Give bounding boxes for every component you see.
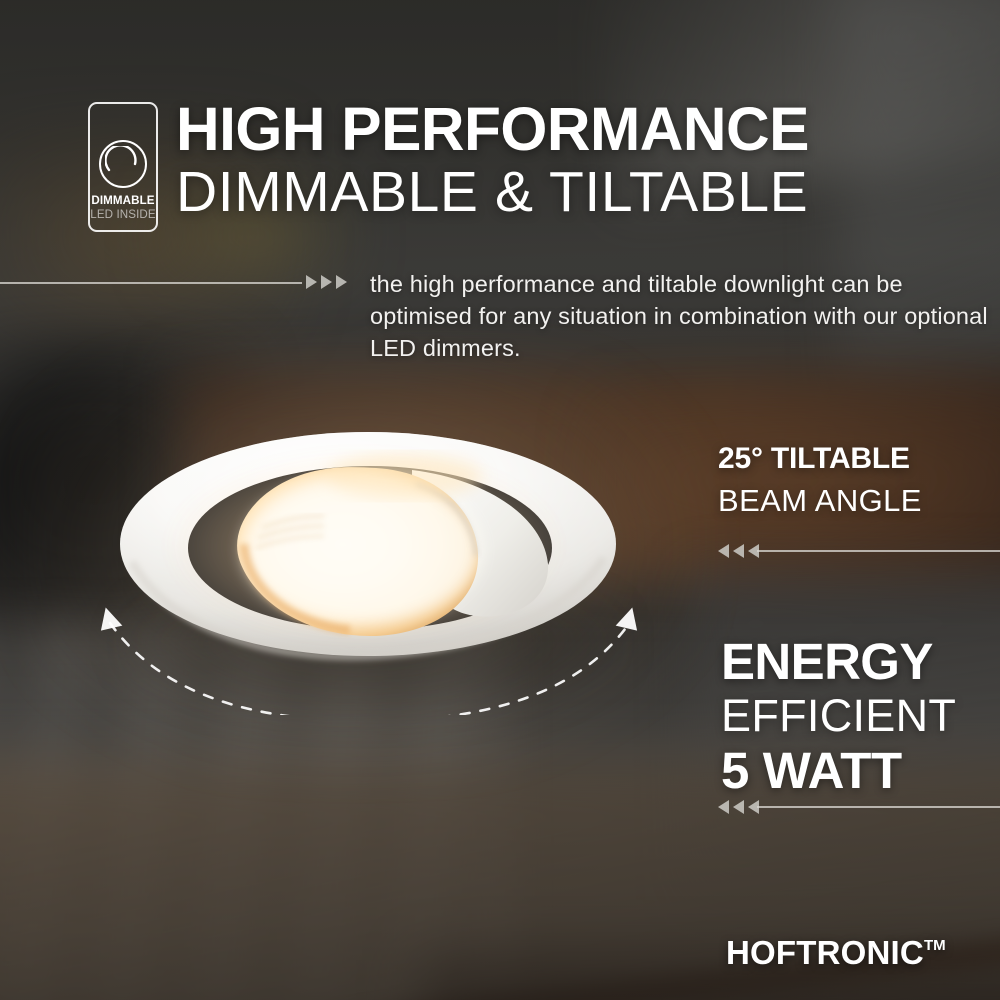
callout-energy-line3: 5 WATT (721, 745, 956, 796)
dimmer-knob-arc-icon (105, 146, 141, 182)
brand-trademark: TM (924, 937, 946, 954)
badge-title: DIMMABLE (90, 195, 156, 207)
brand-logo: HOFTRONICTM (726, 934, 946, 972)
product-downlight-image (112, 424, 624, 692)
triangle-left-icon (718, 800, 729, 814)
brand-name: HOFTRONIC (726, 934, 924, 971)
triangle-right-icon (306, 275, 317, 289)
divider-line-top (0, 282, 302, 284)
divider-arrows-tilt (718, 544, 759, 558)
callout-tiltable-bold: 25° TILTABLE (718, 444, 922, 474)
headline-secondary: DIMMABLE & TILTABLE (176, 164, 808, 221)
callout-tiltable-light: BEAM ANGLE (718, 485, 922, 516)
downlight-svg (112, 424, 624, 692)
callout-energy-line1: ENERGY (721, 636, 956, 687)
callout-energy: ENERGY EFFICIENT 5 WATT (721, 636, 956, 796)
divider-arrows-energy (718, 800, 759, 814)
product-feature-banner: DIMMABLE LED INSIDE HIGH PERFORMANCE DIM… (0, 0, 1000, 1000)
triangle-left-icon (718, 544, 729, 558)
divider-line-energy (757, 806, 1000, 808)
triangle-left-icon (733, 800, 744, 814)
headline-primary: HIGH PERFORMANCE (176, 99, 809, 160)
callout-tiltable: 25° TILTABLE BEAM ANGLE (718, 444, 922, 516)
body-paragraph: the high performance and tiltable downli… (370, 268, 990, 365)
divider-arrows-top (306, 275, 347, 289)
triangle-right-icon (336, 275, 347, 289)
callout-energy-line2: EFFICIENT (721, 693, 956, 738)
badge-subtitle: LED INSIDE (90, 209, 156, 221)
dimmable-led-badge: DIMMABLE LED INSIDE (88, 102, 158, 232)
triangle-right-icon (321, 275, 332, 289)
triangle-left-icon (733, 544, 744, 558)
divider-line-tilt (757, 550, 1000, 552)
